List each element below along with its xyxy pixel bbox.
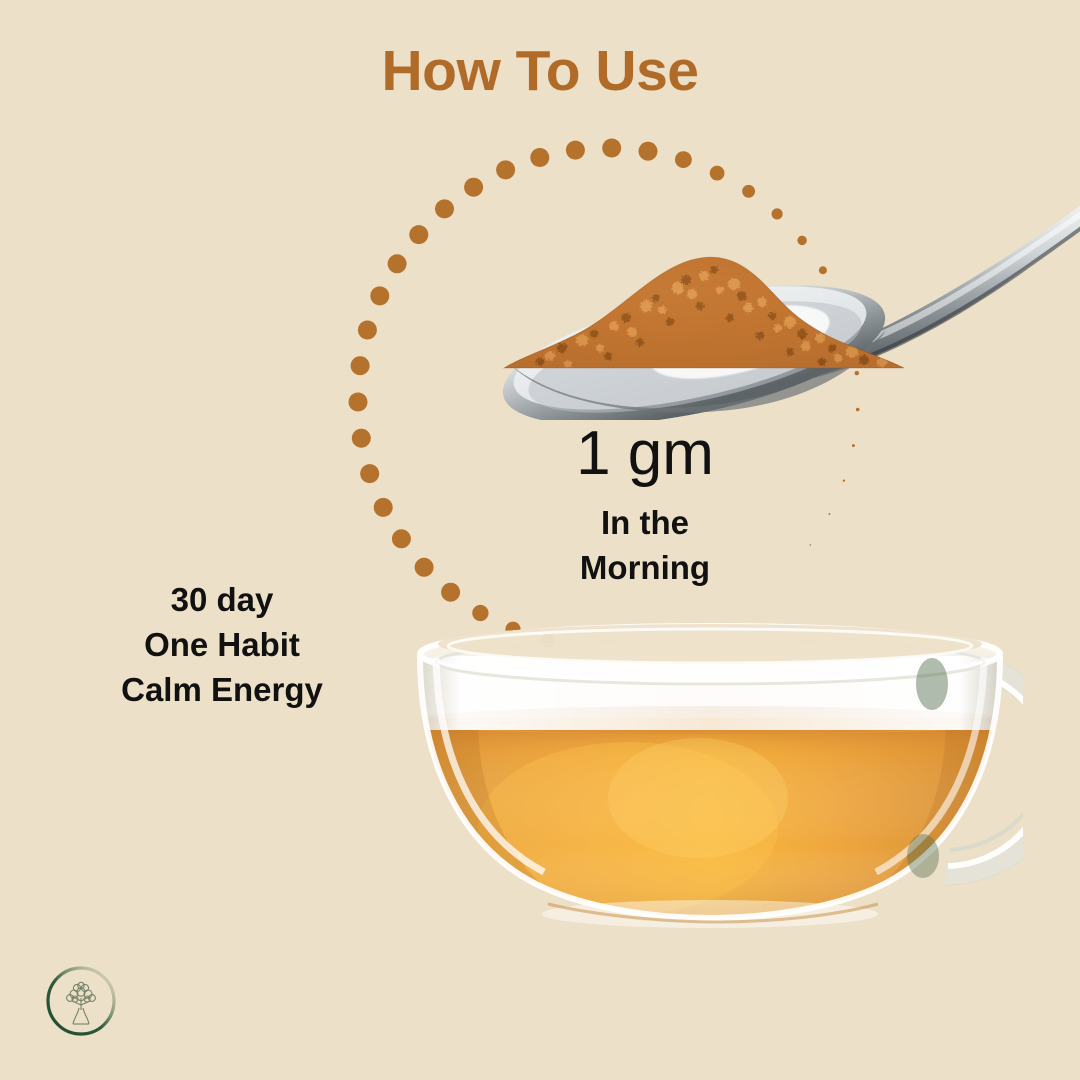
tagline-line1: 30 day [62,578,382,623]
arc-dot [351,356,370,375]
arc-dot [360,464,379,483]
arc-dot [388,254,407,273]
page-title: How To Use [0,40,1080,103]
logo-tree [67,982,96,1024]
arc-dot [352,429,371,448]
glass-tea-cup-icon [398,618,1023,948]
tree-in-circle-logo-icon [38,958,124,1044]
tagline-line3: Calm Energy [62,668,382,713]
arc-dot [358,321,377,340]
arc-dot [852,444,855,447]
dosage-timing: In the Morning [445,501,845,590]
tagline-line2: One Habit [62,623,382,668]
tea-liquid [414,706,1008,930]
arc-dot [409,225,428,244]
spoon-with-powder-icon [490,150,1080,420]
dosage-amount: 1 gm [445,423,845,485]
dosage-timing-line2: Morning [445,546,845,591]
brand-logo [38,958,124,1044]
arc-dot [349,393,368,412]
tagline-block: 30 day One Habit Calm Energy [62,578,382,713]
arc-dot [415,558,434,577]
arc-dot [370,286,389,305]
dosage-timing-line1: In the [601,504,689,541]
dosage-block: 1 gm In the Morning [445,423,845,590]
arc-dot [435,199,454,218]
arc-dot [392,529,411,548]
cup-body [414,624,1008,930]
poster-canvas: How To Use [0,0,1080,1080]
arc-dot [464,178,483,197]
arc-dot [374,498,393,517]
